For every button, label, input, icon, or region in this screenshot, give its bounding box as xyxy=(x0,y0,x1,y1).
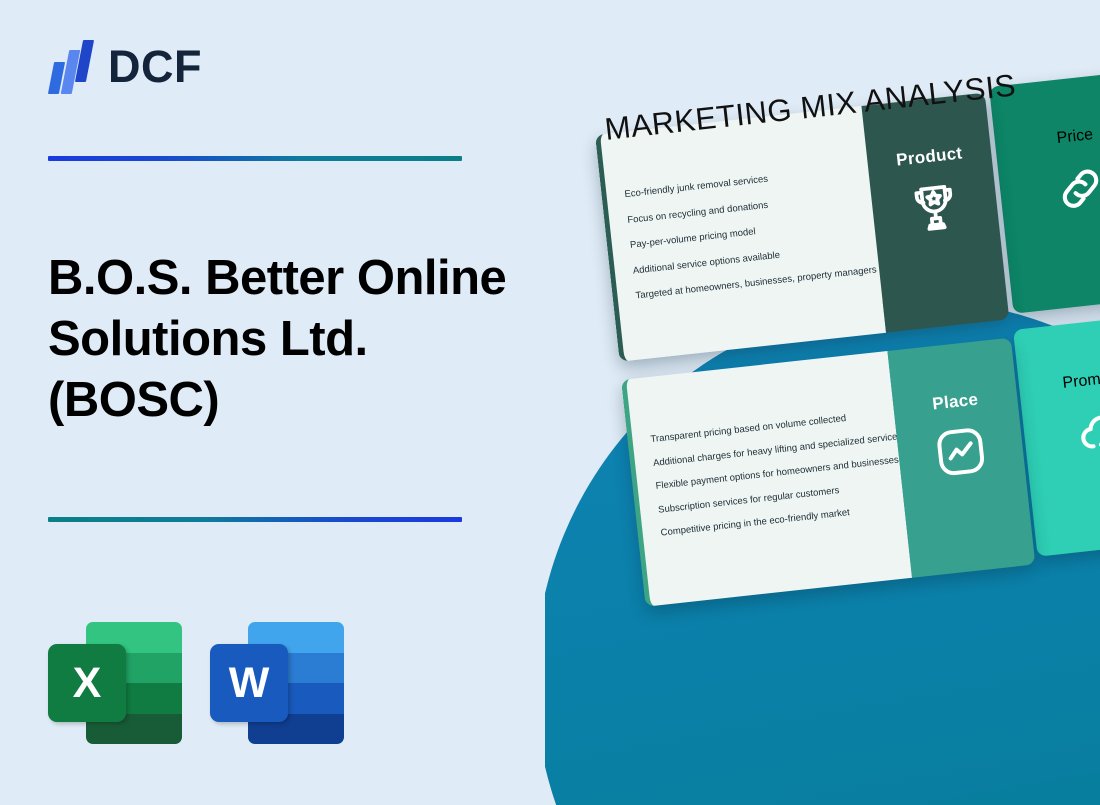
place-bullet-list: Transparent pricing based on volume coll… xyxy=(650,409,905,538)
dcf-wordmark: DCF xyxy=(108,44,202,89)
cloud-bolt-icon xyxy=(1071,386,1100,469)
word-badge-letter: W xyxy=(210,644,288,722)
download-formats: X W xyxy=(48,622,344,744)
dcf-logo[interactable]: DCF xyxy=(48,38,202,94)
excel-badge-letter: X xyxy=(48,644,126,722)
dcf-bars-logo-icon xyxy=(48,38,94,94)
place-bullets-panel: Transparent pricing based on volume coll… xyxy=(621,351,912,607)
chart-square-icon xyxy=(929,409,992,483)
divider-bottom xyxy=(48,517,462,522)
product-bullets-panel: Eco-friendly junk removal services Focus… xyxy=(595,106,886,362)
marketing-mix-graphic: Price Promotion Eco-friendly xyxy=(545,0,1100,805)
excel-file-icon[interactable]: X xyxy=(48,622,182,744)
quadrant-card-price[interactable]: Price xyxy=(989,70,1100,314)
quadrant-card-product[interactable]: Product xyxy=(861,93,1009,333)
quadrant-row-place[interactable]: Transparent pricing based on volume coll… xyxy=(621,338,1035,607)
quadrant-card-place[interactable]: Place xyxy=(887,338,1035,578)
left-info-panel: DCF B.O.S. Better Online Solutions Ltd. … xyxy=(0,0,545,805)
trophy-icon xyxy=(903,164,966,238)
divider-top xyxy=(48,156,462,161)
link-chain-icon xyxy=(1047,143,1100,226)
page-title: B.O.S. Better Online Solutions Ltd. (BOS… xyxy=(48,248,518,430)
page-root: DCF B.O.S. Better Online Solutions Ltd. … xyxy=(0,0,1100,805)
product-bullet-list: Eco-friendly junk removal services Focus… xyxy=(624,164,880,301)
word-file-icon[interactable]: W xyxy=(210,622,344,744)
